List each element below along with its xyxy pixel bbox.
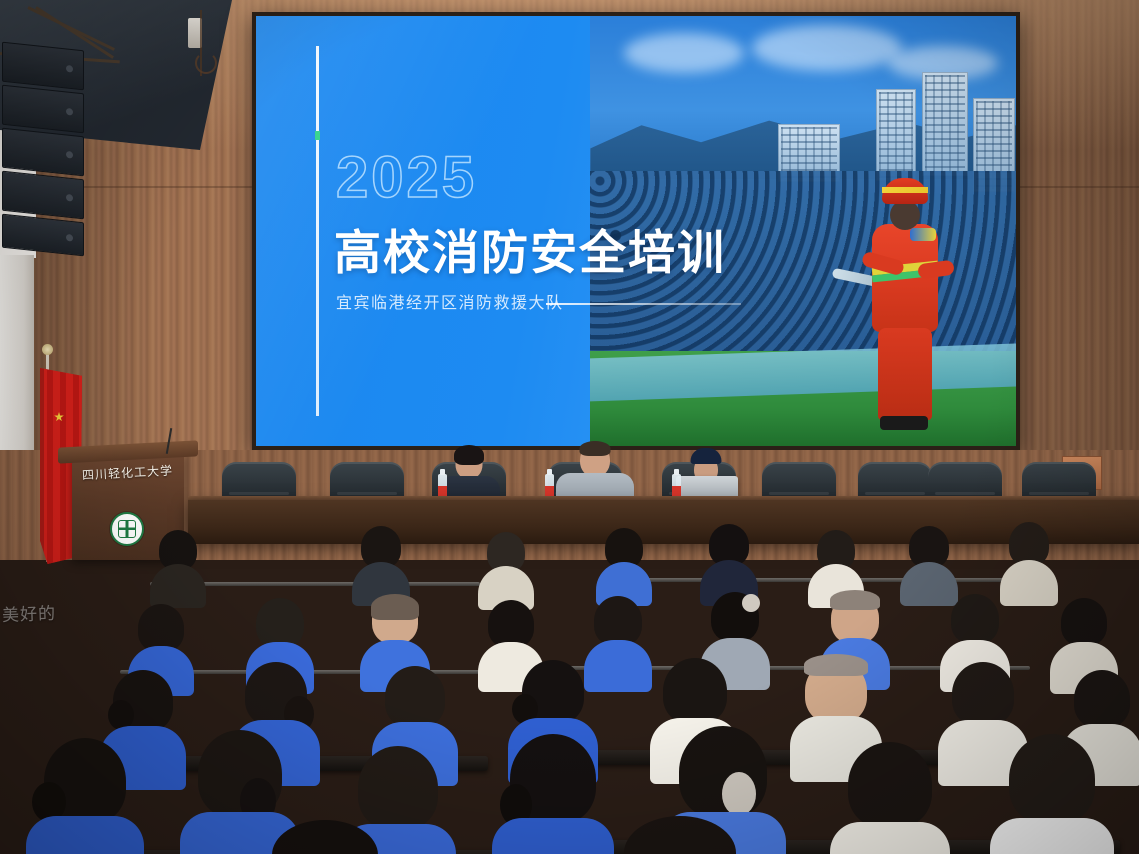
audience-member bbox=[150, 530, 206, 602]
firefighter-figure bbox=[866, 178, 944, 433]
slide-accent-line bbox=[316, 46, 319, 416]
podium-label: 四川轻化工大学 bbox=[82, 462, 174, 484]
line-array-speaker bbox=[2, 42, 84, 265]
audience-member bbox=[700, 524, 758, 602]
flag-finial bbox=[42, 344, 53, 355]
audience-member bbox=[26, 738, 144, 854]
audience-member bbox=[830, 742, 950, 854]
presentation-slide: 2025 高校消防安全培训 宜宾临港经开区消防救援大队 bbox=[256, 16, 1016, 446]
bracket-hook bbox=[195, 52, 217, 74]
slide-divider bbox=[546, 303, 741, 305]
watermark: 美好的 bbox=[2, 599, 57, 626]
audience-member bbox=[600, 816, 760, 854]
auditorium-photo: 2025 高校消防安全培训 宜宾临港经开区消防救援大队 四川轻化工大学 bbox=[0, 0, 1139, 854]
audience-member bbox=[990, 734, 1114, 854]
audience-member bbox=[352, 526, 410, 602]
audience-member bbox=[492, 734, 614, 854]
audience-member bbox=[250, 820, 400, 854]
audience-member bbox=[596, 528, 652, 602]
slide-subtitle: 宜宾临港经开区消防救援大队 bbox=[336, 289, 564, 313]
slide-title: 高校消防安全培训 bbox=[334, 214, 726, 283]
led-screen: 2025 高校消防安全培训 宜宾临港经开区消防救援大队 bbox=[252, 12, 1020, 450]
audience-member bbox=[1000, 522, 1058, 602]
audience-member bbox=[900, 526, 958, 602]
slide-accent-dot bbox=[315, 131, 320, 140]
audience-member bbox=[478, 532, 534, 604]
audience bbox=[0, 520, 1139, 854]
slide-year: 2025 bbox=[336, 144, 477, 211]
